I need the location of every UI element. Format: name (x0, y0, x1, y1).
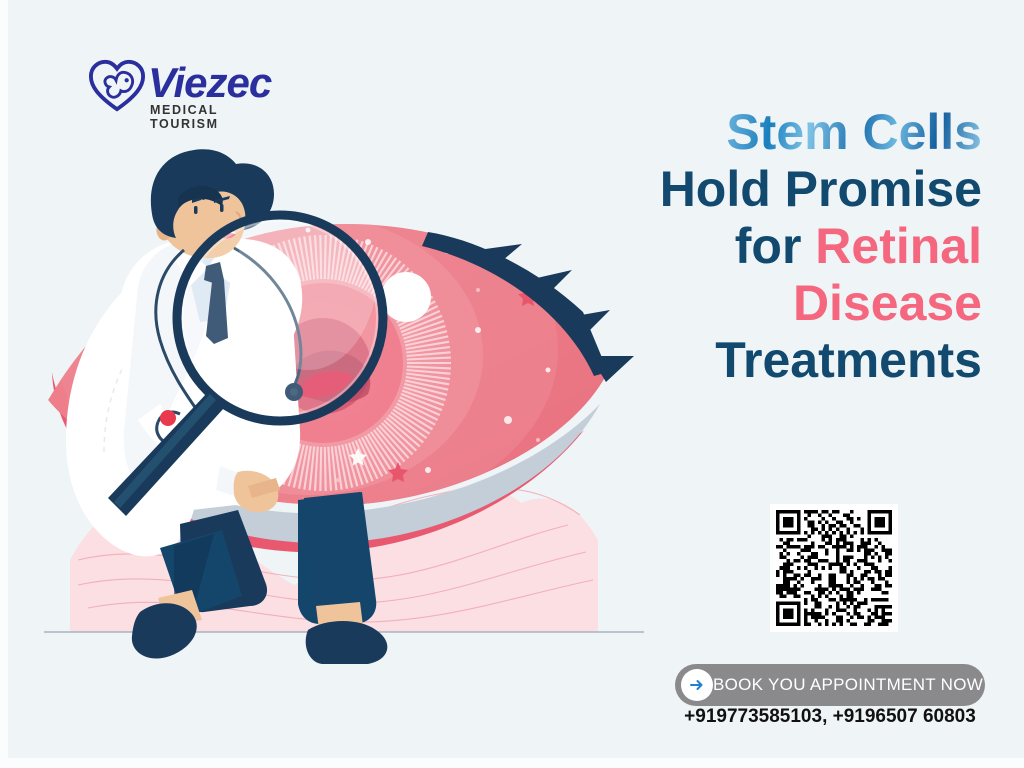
arrow-right-icon (681, 669, 713, 701)
headline-line-5: Treatments (562, 332, 982, 389)
heart-embryo-icon (88, 57, 146, 115)
headline-line-4: Disease (562, 275, 982, 332)
headline-line-3: for Retinal (562, 218, 982, 275)
headline-seg: Retinal (815, 218, 982, 274)
headline-seg: Stem Cells (726, 104, 982, 160)
brand-tagline: MEDICAL TOURISM (150, 103, 288, 131)
brand-name: Viezec (148, 59, 271, 107)
stethoscope-earpiece (160, 410, 176, 426)
headline-seg: Hold Promise (660, 161, 982, 217)
page-title: Stem Cells Hold Promise for Retinal Dise… (562, 104, 982, 389)
headline-line-2: Hold Promise (562, 161, 982, 218)
headline-seg: Disease (793, 275, 982, 331)
eye-highlight (381, 272, 431, 322)
headline-seg: for (735, 218, 816, 274)
headline-seg: Treatments (715, 332, 982, 388)
book-appointment-label: BOOK YOU APPOINTMENT NOW (713, 675, 993, 695)
headline-line-1: Stem Cells (562, 104, 982, 161)
book-appointment-button[interactable]: BOOK YOU APPOINTMENT NOW (675, 664, 985, 706)
qr-code-canvas (776, 510, 892, 626)
qr-code[interactable] (770, 504, 898, 632)
poster-canvas: Viezec MEDICAL TOURISM Stem Cells Hold P… (8, 0, 1024, 758)
contact-phone-numbers: +919773585103, +9196507 60803 (675, 706, 985, 728)
brand-logo[interactable]: Viezec MEDICAL TOURISM (88, 55, 288, 125)
